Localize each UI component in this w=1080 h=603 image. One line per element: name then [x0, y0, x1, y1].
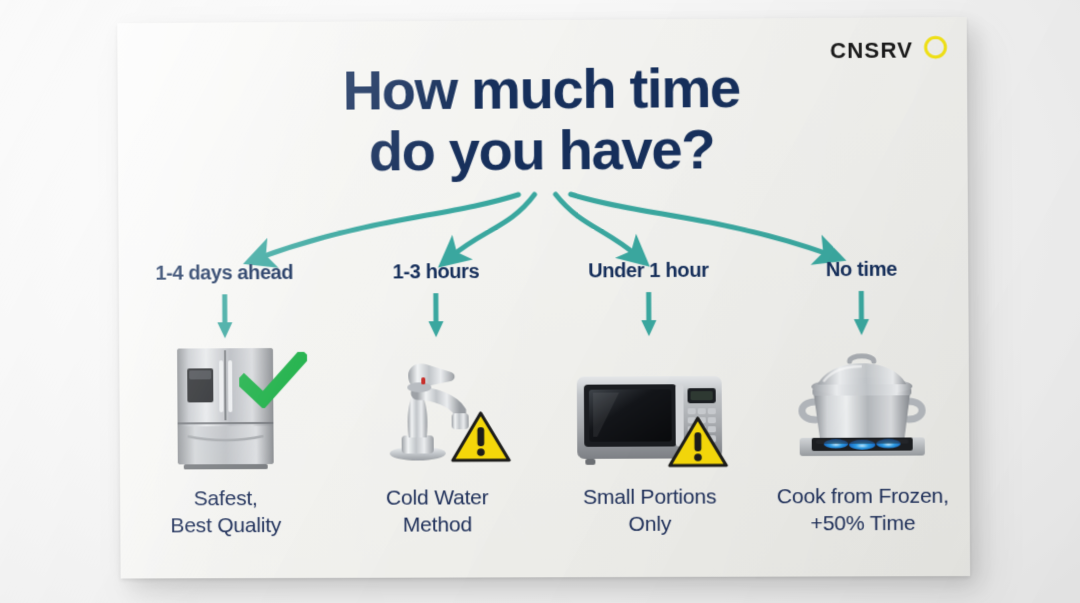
- option-column-stove[interactable]: No time: [755, 258, 970, 538]
- microwave-icon: [575, 370, 724, 471]
- microwave-art: [568, 344, 730, 471]
- option-caption: Safest, Best Quality: [170, 486, 281, 540]
- arrow-to-column-4: [571, 193, 831, 257]
- option-label: No time: [826, 259, 897, 282]
- refrigerator-art: [145, 346, 306, 473]
- option-column-faucet[interactable]: 1-3 hours: [330, 261, 544, 540]
- faucet-art: [356, 345, 517, 472]
- option-column-microwave[interactable]: Under 1 hour: [542, 259, 756, 539]
- option-column-fridge[interactable]: 1-4 days ahead: [119, 262, 332, 541]
- option-caption: Cook from Frozen, +50% Time: [777, 484, 949, 539]
- infographic-stage: CNSRV How much time do you have?: [0, 0, 1080, 603]
- title-line-1: How much time: [342, 56, 740, 122]
- down-arrow-icon: [639, 292, 657, 338]
- pot-on-gas-stove-icon: [785, 351, 939, 470]
- option-caption: Small Portions Only: [583, 484, 717, 538]
- page-title: How much time do you have?: [117, 55, 967, 183]
- option-label: Under 1 hour: [588, 260, 708, 284]
- option-label: 1-4 days ahead: [155, 262, 293, 286]
- down-arrow-icon: [427, 293, 445, 339]
- infographic-poster: CNSRV How much time do you have?: [117, 17, 970, 579]
- down-arrow-icon: [852, 291, 870, 337]
- faucet-icon: [377, 349, 496, 472]
- pot-on-gas-stove-art: [781, 343, 943, 470]
- arrow-to-column-1: [258, 195, 519, 259]
- down-arrow-icon: [215, 294, 233, 340]
- refrigerator-icon: [169, 346, 282, 472]
- option-caption: Cold Water Method: [386, 485, 489, 539]
- option-columns: 1-4 days ahead: [119, 258, 970, 540]
- option-label: 1-3 hours: [393, 261, 480, 284]
